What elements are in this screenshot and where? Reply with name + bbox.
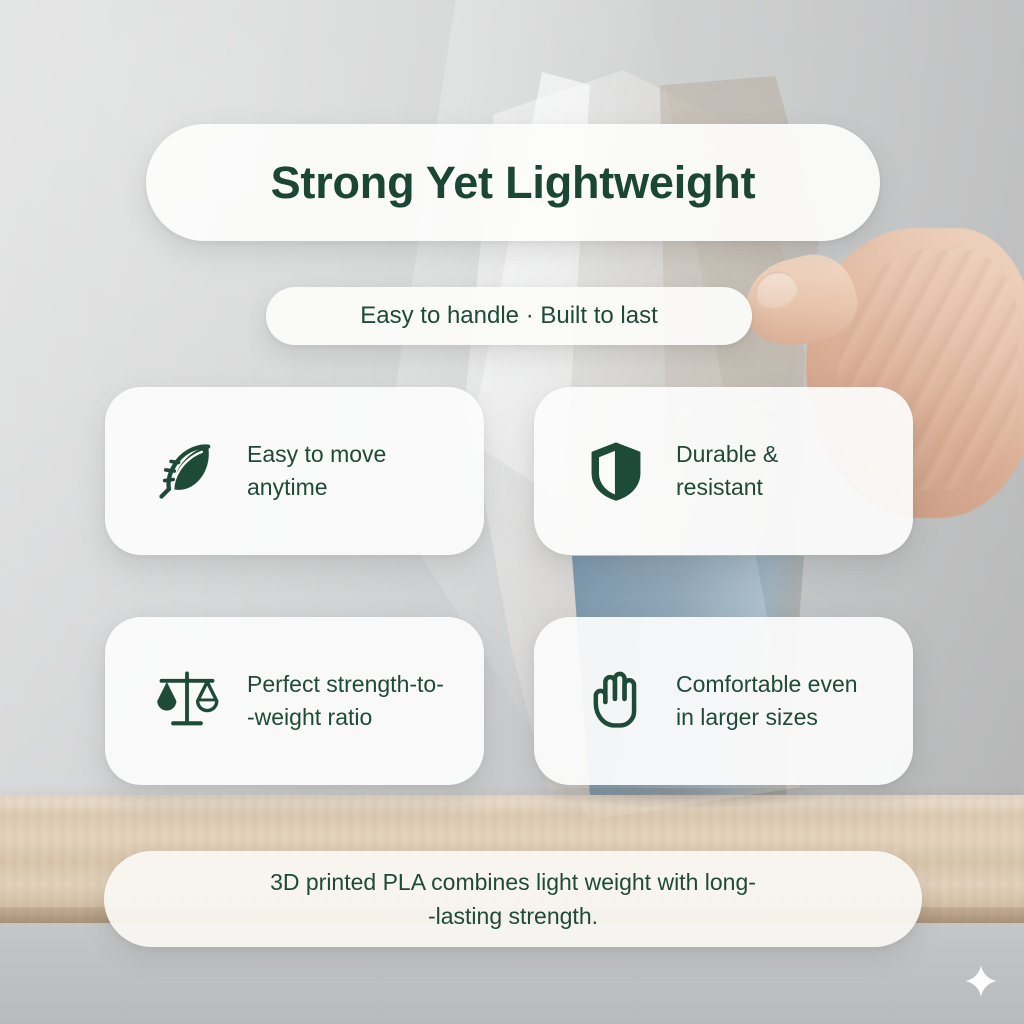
subtitle-pill: Easy to handle · Built to last [266, 287, 752, 345]
feature-card-easy-to-move[interactable]: Easy to moveanytime [105, 387, 484, 555]
feature-label-line-1: Comfortable even [676, 671, 858, 697]
feature-label-line-2: resistant [676, 474, 763, 500]
feature-card-label: Durable &resistant [676, 438, 778, 503]
shield-icon [582, 437, 650, 505]
feature-card-grid: Easy to moveanytime Durable &resistant [105, 387, 923, 785]
feature-label-line-2: anytime [247, 474, 328, 500]
feature-card-comfortable[interactable]: Comfortable evenin larger sizes [534, 617, 913, 785]
sparkle-icon [964, 964, 998, 998]
footer-text: 3D printed PLA combines light weight wit… [270, 865, 756, 934]
title-pill: Strong Yet Lightweight [146, 124, 880, 241]
balance-scale-icon [153, 667, 221, 735]
footer-text-line-1: 3D printed PLA combines light weight wit… [270, 869, 756, 895]
feature-card-strength-to-weight[interactable]: Perfect strength-to--weight ratio [105, 617, 484, 785]
feature-card-label: Comfortable evenin larger sizes [676, 668, 858, 733]
page-subtitle: Easy to handle · Built to last [360, 302, 658, 330]
feature-label-line-1: Easy to move [247, 441, 386, 467]
poster-canvas: Strong Yet Lightweight Easy to handle · … [0, 0, 1024, 1024]
feature-card-label: Easy to moveanytime [247, 438, 386, 503]
feature-label-line-1: Perfect strength-to- [247, 671, 444, 697]
overlay-layer: Strong Yet Lightweight Easy to handle · … [0, 0, 1024, 1024]
footer-text-line-2: -lasting strength. [428, 903, 598, 929]
feature-label-line-2: -weight ratio [247, 704, 372, 730]
page-title: Strong Yet Lightweight [271, 157, 756, 209]
open-hand-icon [582, 667, 650, 735]
feature-card-label: Perfect strength-to--weight ratio [247, 668, 444, 733]
feature-label-line-2: in larger sizes [676, 704, 818, 730]
feature-label-line-1: Durable & [676, 441, 778, 467]
footer-pill: 3D printed PLA combines light weight wit… [104, 851, 922, 947]
feature-card-durable[interactable]: Durable &resistant [534, 387, 913, 555]
feather-icon [153, 437, 221, 505]
